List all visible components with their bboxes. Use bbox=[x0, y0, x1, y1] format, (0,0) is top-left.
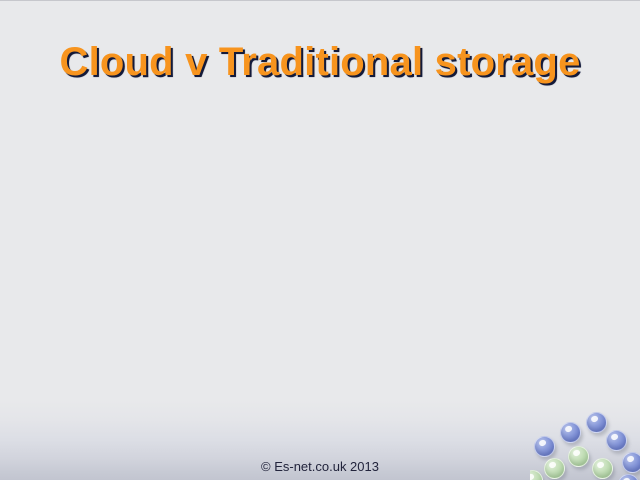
footer: © Es-net.co.uk 2013 bbox=[0, 458, 640, 476]
title-block: Cloud v Traditional storage bbox=[0, 40, 640, 85]
presentation-slide: Cloud v Traditional storage © Es-net.co.… bbox=[0, 0, 640, 480]
slide-title: Cloud v Traditional storage bbox=[59, 40, 580, 85]
top-edge-line bbox=[0, 0, 640, 1]
slide-content-area bbox=[60, 100, 580, 400]
copyright-text: © Es-net.co.uk 2013 bbox=[261, 459, 379, 474]
